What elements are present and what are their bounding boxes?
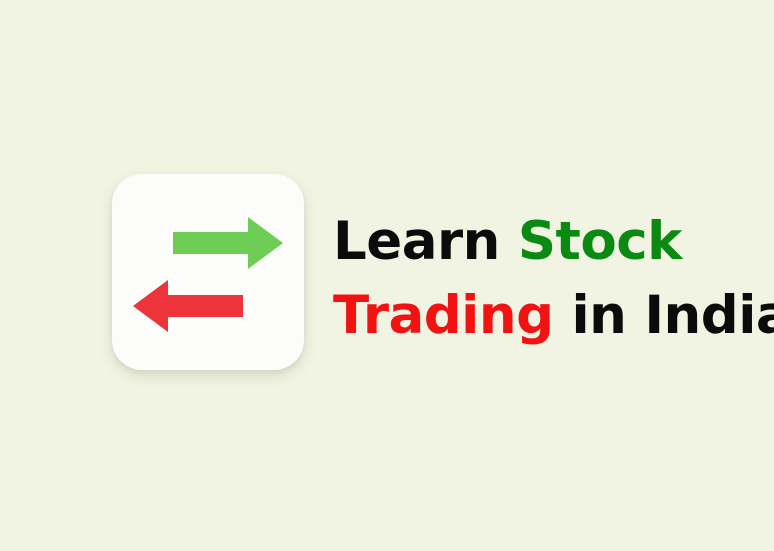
arrow-right-icon [173,217,283,269]
page-title: Learn Stock Trading in India [333,205,753,353]
stock-trading-banner: Learn Stock Trading in India [0,0,774,551]
exchange-arrows-icon [112,174,304,370]
headline-word-stock: Stock [518,211,682,272]
icon-card [112,174,304,370]
headline-line-1: Learn Stock [333,205,753,279]
headline-word-in-india: in India [571,285,774,346]
headline-space-2 [554,285,572,346]
headline-word-learn: Learn [333,211,500,272]
headline-space-1 [500,211,518,272]
arrow-left-shape [133,280,243,332]
arrow-left-icon [133,280,243,332]
arrow-right-shape [173,217,283,269]
headline-line-2: Trading in India [333,279,753,353]
icon-card-inner [112,174,304,370]
headline-word-trading: Trading [333,285,554,346]
